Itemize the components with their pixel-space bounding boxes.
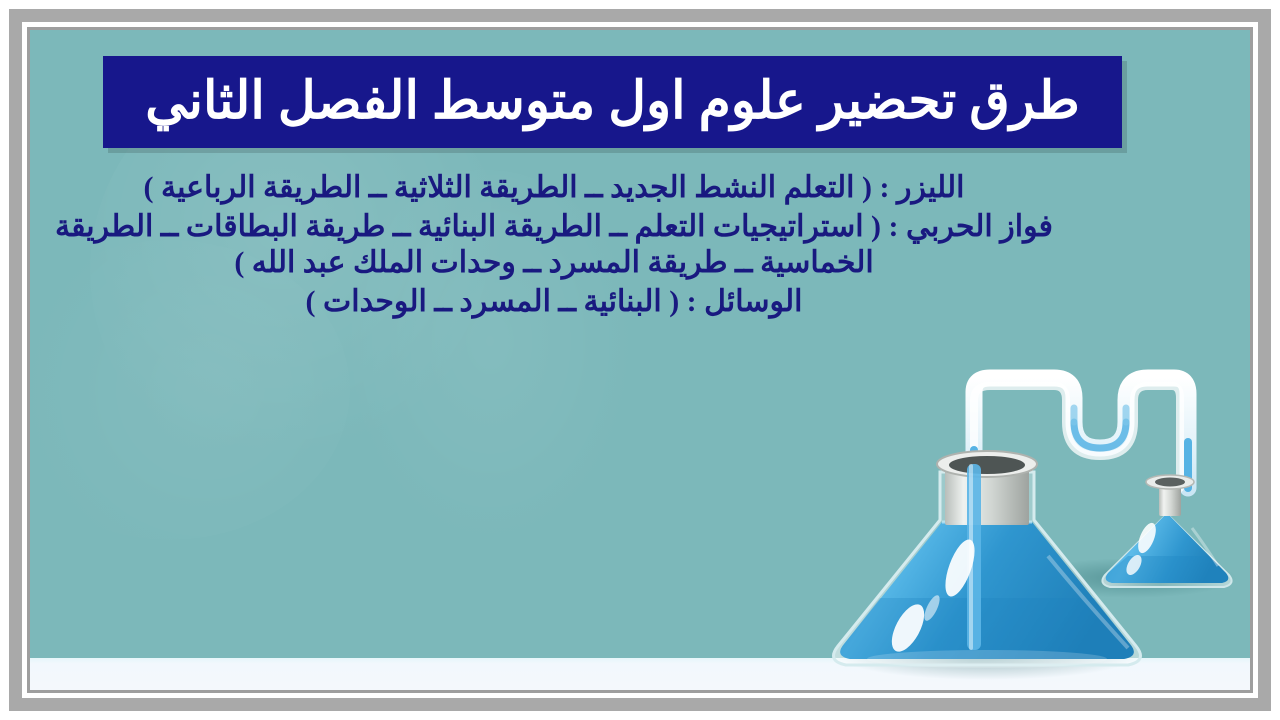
slide-content-area: طرق تحضير علوم اول متوسط الفصل الثاني ال… [30,30,1250,690]
slide-frame: طرق تحضير علوم اول متوسط الفصل الثاني ال… [0,0,1280,720]
slide-title-banner: طرق تحضير علوم اول متوسط الفصل الثاني [103,56,1122,148]
body-paragraph-laser: الليزر : ( التعلم النشط الجديد ــ الطريق… [54,170,1054,207]
desk-surface-strip [30,658,1250,690]
body-paragraph-fawaz-alharbi: فواز الحربي : ( استراتيجيات التعلم ــ ال… [54,209,1054,282]
slide-title-text: طرق تحضير علوم اول متوسط الفصل الثاني [145,75,1080,130]
slide-body-text: الليزر : ( التعلم النشط الجديد ــ الطريق… [54,170,1054,322]
flasks-illustration [822,360,1242,690]
body-paragraph-wasael: الوسائل : ( البنائية ــ المسرد ــ الوحدا… [54,284,1054,321]
